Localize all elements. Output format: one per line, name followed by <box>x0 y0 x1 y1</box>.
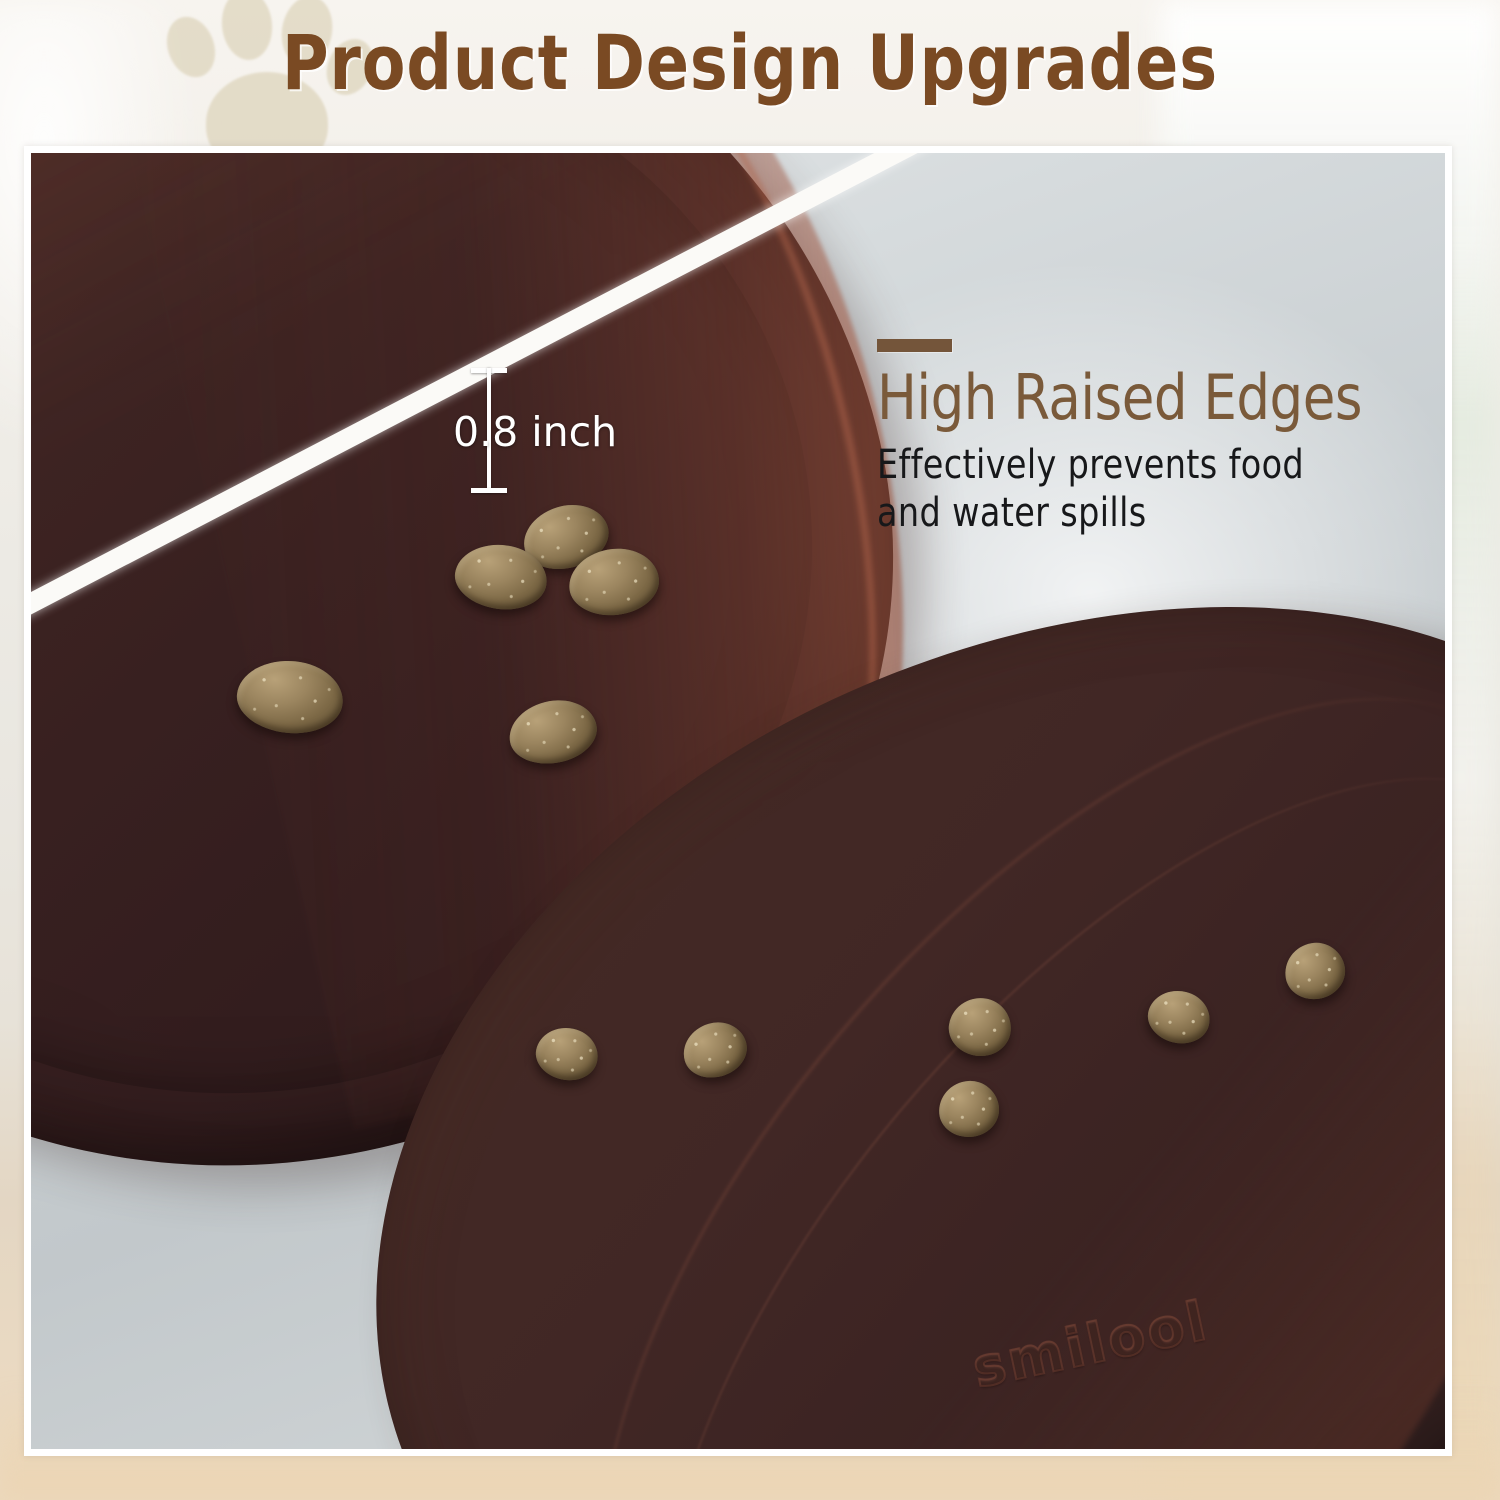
pet-mat-underside-group: smilool <box>331 653 1445 1449</box>
measurement-label: 0.8 inch <box>449 408 621 456</box>
callout-body-line2: and water spills <box>877 490 1147 536</box>
photo-frame: smilool 0.8 inch High Raised Edges <box>24 146 1452 1456</box>
page-title: Product Design Upgrades <box>53 18 1448 107</box>
measure-cap-bottom <box>471 488 507 493</box>
product-infographic: Product Design Upgrades <box>0 0 1500 1500</box>
callout-body-line1: Effectively prevents food <box>877 442 1304 488</box>
product-photo: smilool 0.8 inch High Raised Edges <box>31 153 1445 1449</box>
header: Product Design Upgrades <box>0 0 1500 146</box>
callout-high-raised-edges: High Raised Edges Effectively prevents f… <box>877 339 1388 537</box>
callout-body: Effectively prevents food and water spil… <box>877 441 1352 537</box>
callout-heading: High Raised Edges <box>877 366 1362 429</box>
accent-bar <box>877 339 952 352</box>
